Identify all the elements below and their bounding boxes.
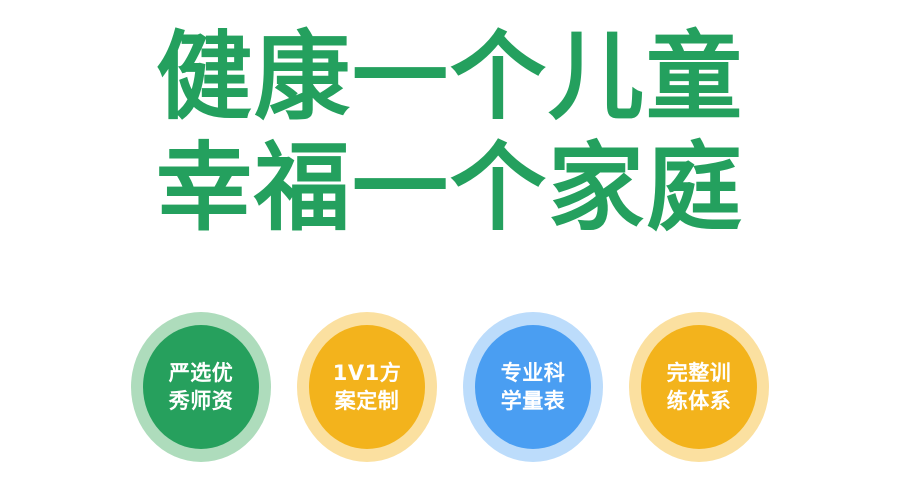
badge-label: 完整训 练体系: [647, 359, 751, 415]
badge-label-line-2: 练体系: [667, 389, 732, 413]
feature-badge-training-system[interactable]: 完整训 练体系: [629, 312, 769, 462]
feature-badge-scientific-scale[interactable]: 专业科 学量表: [463, 312, 603, 462]
badge-label-line-2: 案定制: [335, 389, 400, 413]
feature-badge-selected-teachers[interactable]: 严选优 秀师资: [131, 312, 271, 462]
badge-label: 严选优 秀师资: [149, 359, 253, 415]
promo-poster: 健康一个儿童 幸福一个家庭 严选优 秀师资 1V1方 案定制 专业科 学: [0, 0, 900, 504]
badge-label: 专业科 学量表: [481, 359, 585, 415]
feature-badge-row: 严选优 秀师资 1V1方 案定制 专业科 学量表 完整训: [0, 312, 900, 472]
feature-badge-custom-plan[interactable]: 1V1方 案定制: [297, 312, 437, 462]
headline-block: 健康一个儿童 幸福一个家庭: [0, 22, 900, 245]
badge-label-line-2: 秀师资: [169, 389, 234, 413]
headline-line-2: 幸福一个家庭: [0, 133, 900, 244]
headline-line-1: 健康一个儿童: [0, 22, 900, 133]
badge-label-line-1: 专业科: [501, 361, 566, 385]
badge-label: 1V1方 案定制: [315, 359, 419, 415]
badge-label-line-1: 严选优: [169, 361, 234, 385]
badge-label-line-1: 1V1方: [333, 361, 401, 385]
badge-label-line-2: 学量表: [501, 389, 566, 413]
badge-label-line-1: 完整训: [667, 361, 732, 385]
